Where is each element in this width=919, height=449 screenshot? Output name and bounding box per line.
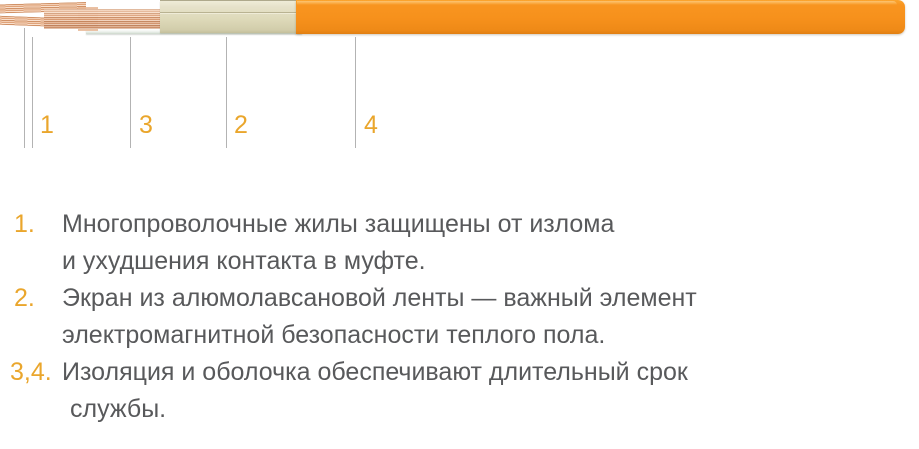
list-item-marker: 2. — [0, 280, 58, 317]
cable-layer-insulation — [160, 1, 300, 33]
cable-copper-shading — [44, 9, 166, 29]
cable-insulation-seam-highlight — [160, 13, 300, 14]
cable-feature-notes: 1. Многопроволочные жилы защищены от изл… — [0, 206, 919, 428]
leader-line-4 — [355, 37, 356, 148]
list-item-line: службы. — [62, 391, 919, 428]
list-item: 3,4. Изоляция и оболочка обеспечивают дл… — [0, 354, 919, 428]
cable-sheath-highlight — [297, 1, 897, 5]
list-item-line: Многопроволочные жилы защищены от излома — [62, 206, 919, 243]
list-item-line: электромагнитной безопасности теплого по… — [62, 317, 919, 354]
callout-number-2: 2 — [234, 113, 248, 138]
leader-line-2 — [226, 37, 227, 148]
list-item-body: Изоляция и оболочка обеспечивают длитель… — [58, 354, 919, 428]
leader-line-1 — [32, 37, 33, 148]
list-item-marker: 3,4. — [0, 354, 58, 391]
callout-number-3: 3 — [139, 113, 153, 138]
cable-diagram: 1 3 2 4 — [0, 0, 919, 160]
cable-illustration — [0, 0, 919, 40]
cable-insulation-edge — [160, 0, 300, 1]
cable-layer-outer-sheath — [296, 0, 905, 34]
list-item-line: Изоляция и оболочка обеспечивают длитель… — [62, 354, 919, 391]
list-item: 1. Многопроволочные жилы защищены от изл… — [0, 206, 919, 280]
list-item-line: Экран из алюмолавсановой ленты — важный … — [62, 280, 919, 317]
list-item-body: Многопроволочные жилы защищены от излома… — [58, 206, 919, 280]
list-item-marker: 1. — [0, 206, 58, 243]
list-item-line: и ухудшения контакта в муфте. — [62, 243, 919, 280]
callout-number-1: 1 — [40, 113, 54, 138]
leader-line-3 — [130, 37, 131, 148]
callout-number-4: 4 — [364, 113, 378, 138]
list-item: 2. Экран из алюмолавсановой ленты — важн… — [0, 280, 919, 354]
list-item-body: Экран из алюмолавсановой ленты — важный … — [58, 280, 919, 354]
leader-line-0 — [24, 28, 25, 148]
